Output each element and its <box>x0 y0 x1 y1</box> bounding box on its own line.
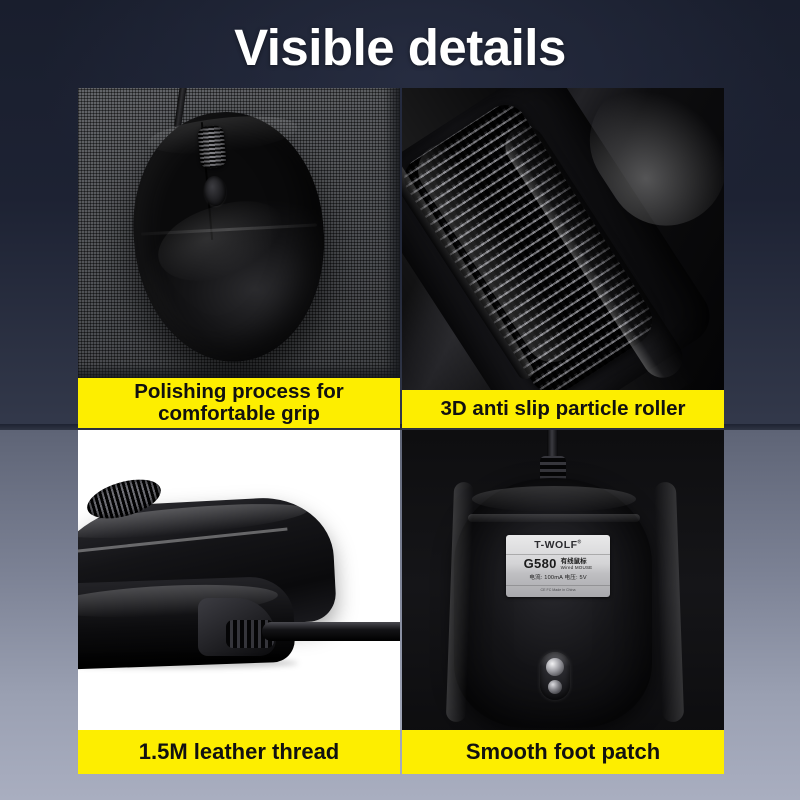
underside-top-highlight <box>472 486 636 512</box>
photo-mouse-underside: T-WOLF® G580 有线鼠标 Wired MOUSE 电流: 100mA … <box>402 430 724 730</box>
caption-banner-roller: 3D anti slip particle roller <box>402 390 724 428</box>
feature-panel-polishing[interactable]: Polishing process for comfortable grip <box>78 88 400 428</box>
caption-line-1: Polishing process for <box>134 380 344 403</box>
label-model: G580 <box>524 557 557 570</box>
mousepad-edge-bottom <box>78 364 400 378</box>
feature-panel-roller[interactable]: 3D anti slip particle roller <box>402 88 724 428</box>
label-type: 有线鼠标 Wired MOUSE <box>561 559 593 570</box>
caption-banner-foot-patch: Smooth foot patch <box>402 730 724 774</box>
label-type-en: Wired MOUSE <box>561 566 593 571</box>
braided-cable <box>262 622 400 641</box>
mouse-drop-shadow <box>78 658 298 668</box>
optical-sensor-lens <box>546 658 564 676</box>
photo-scroll-wheel-macro <box>402 88 724 390</box>
label-model-row: G580 有线鼠标 Wired MOUSE <box>524 557 593 570</box>
photo-mouse-side-view <box>78 430 400 730</box>
optical-sensor-led <box>548 680 562 694</box>
smooth-foot-patch <box>468 514 640 522</box>
caption-banner-cable: 1.5M leather thread <box>78 730 400 774</box>
underside-rim-right <box>654 482 684 723</box>
caption-banner-polishing: Polishing process for comfortable grip <box>78 378 400 428</box>
label-divider <box>506 554 610 555</box>
feature-panel-grid: Polishing process for comfortable grip 3… <box>78 88 724 772</box>
label-brand: T-WOLF® <box>534 539 581 551</box>
page-title: Visible details <box>0 16 800 80</box>
product-spec-label: T-WOLF® G580 有线鼠标 Wired MOUSE 电流: 100mA … <box>506 535 610 597</box>
label-brand-mark: ® <box>578 540 582 546</box>
photo-top-down-mouse <box>78 88 400 378</box>
label-spec: 电流: 100mA 电压: 5V <box>529 573 587 581</box>
caption-line-2: comfortable grip <box>158 402 320 425</box>
feature-panel-cable[interactable]: 1.5M leather thread <box>78 430 400 774</box>
feature-panel-foot-patch[interactable]: T-WOLF® G580 有线鼠标 Wired MOUSE 电流: 100mA … <box>402 430 724 774</box>
scroll-wheel <box>197 125 227 169</box>
label-footer: CE FC Made in China <box>506 585 610 592</box>
mousepad-edge-right <box>384 88 400 378</box>
label-brand-text: T-WOLF <box>534 539 577 551</box>
